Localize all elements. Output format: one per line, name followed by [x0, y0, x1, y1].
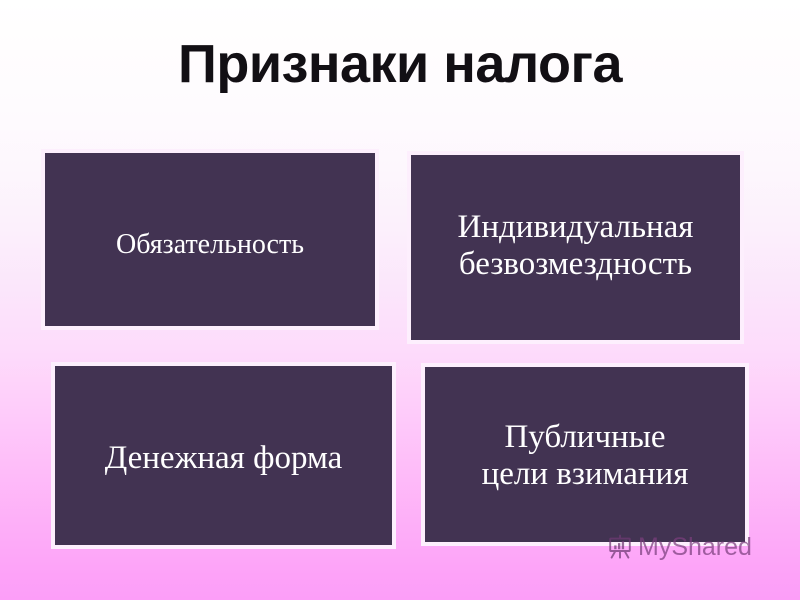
concept-box-label: Индивидуальная безвозмездность — [450, 209, 702, 283]
concept-box-public-collection-purposes[interactable]: Публичные цели взимания — [421, 363, 749, 546]
concept-box-label: Обязательность — [108, 229, 312, 260]
concept-box-individual-gratuitousness[interactable]: Индивидуальная безвозмездность — [407, 151, 744, 344]
concept-box-label: Денежная форма — [97, 440, 351, 477]
watermark-label: MyShared — [638, 534, 752, 560]
watermark: MyShared — [607, 534, 752, 560]
slide-canvas: Признаки налога Обязательность Индивидуа… — [0, 0, 800, 600]
concept-box-obligation[interactable]: Обязательность — [41, 149, 379, 330]
concept-box-monetary-form[interactable]: Денежная форма — [51, 362, 396, 549]
presentation-board-icon — [607, 534, 633, 560]
page-title: Признаки налога — [0, 34, 800, 94]
concept-box-label: Публичные цели взимания — [474, 419, 697, 493]
